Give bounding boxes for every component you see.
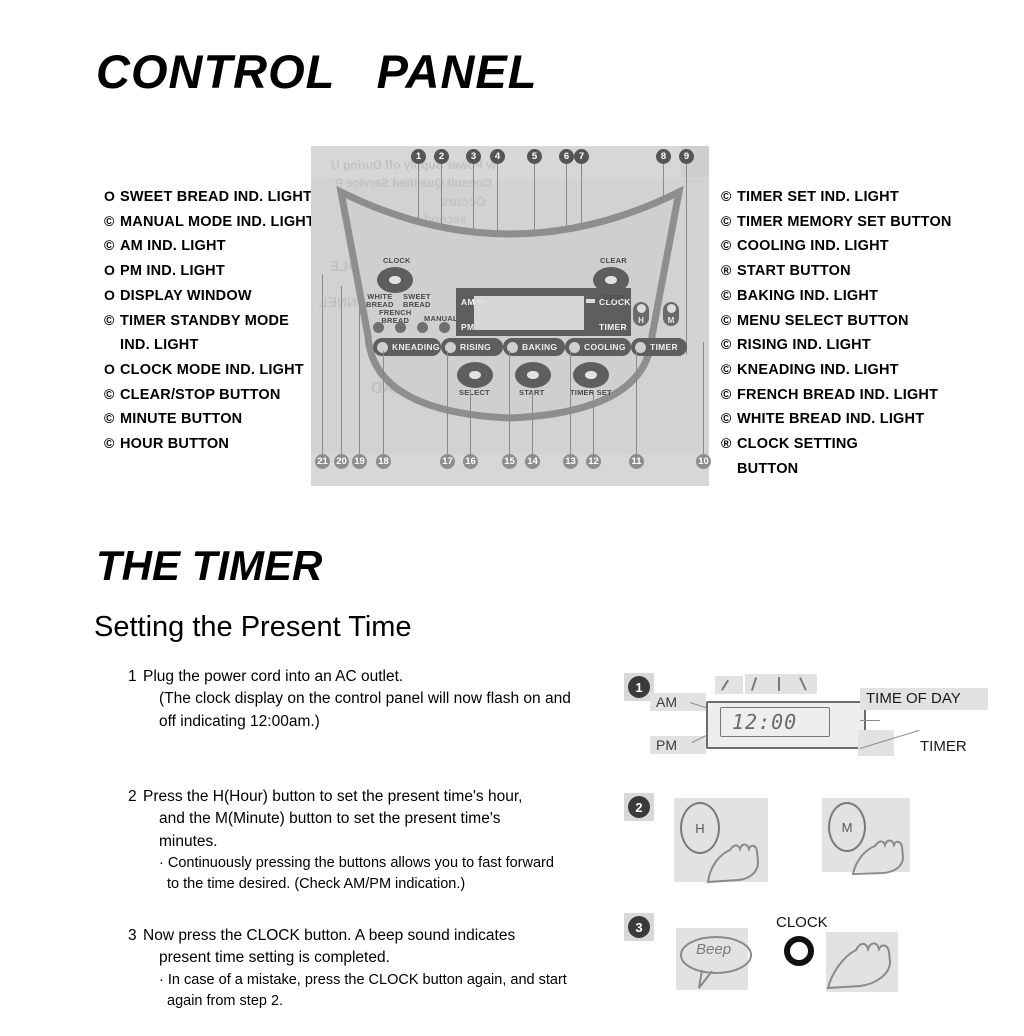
am-label: AM	[656, 694, 677, 710]
callout-label: MINUTE BUTTON	[120, 410, 242, 428]
list-item: © CLEAR/STOP BUTTON	[104, 386, 344, 404]
callout-marker: ©	[104, 312, 120, 330]
timer-mode-indicator-label: TIMER	[599, 322, 627, 332]
callout-badge-17: 17	[440, 454, 455, 469]
pointing-hand-icon	[704, 832, 768, 884]
hour-button[interactable]: H	[633, 302, 649, 326]
clock-indicator-light	[586, 299, 595, 303]
step-1: 1 Plug the power cord into an AC outlet.…	[128, 666, 598, 733]
callout-label: TIMER SET IND. LIGHT	[737, 188, 899, 206]
list-item: © MENU SELECT BUTTON	[721, 312, 981, 330]
step-number: 2	[128, 786, 137, 808]
callout-marker: ©	[721, 213, 737, 231]
minute-button-label: M	[668, 316, 675, 325]
clock-button[interactable]	[377, 267, 413, 293]
list-item: O SWEET BREAD IND. LIGHT	[104, 188, 344, 206]
list-item: ® START BUTTON	[721, 262, 981, 280]
beep-text: Beep	[696, 941, 731, 958]
list-item: © TIMER MEMORY SET BUTTON	[721, 213, 981, 231]
callout-marker: ©	[104, 386, 120, 404]
callout-marker: ©	[104, 410, 120, 428]
page-title-control-panel: CONTROL PANEL	[96, 48, 538, 95]
list-item: © RISING IND. LIGHT	[721, 336, 981, 354]
white-bread-label: WHITEBREAD	[366, 293, 394, 309]
select-button[interactable]	[457, 362, 493, 388]
step-bullet: · Continuously pressing the buttons allo…	[159, 853, 598, 874]
callout-badge-10: 10	[696, 454, 711, 469]
callout-badge-12: 12	[586, 454, 601, 469]
callout-badge-16: 16	[463, 454, 478, 469]
manual-page: CONTROL PANEL O SWEET BREAD IND. LIGHT ©…	[0, 0, 1024, 1036]
callout-marker: ©	[721, 237, 737, 255]
step-line: minutes.	[159, 831, 598, 853]
callout-marker: ©	[104, 213, 120, 231]
list-item: © COOLING IND. LIGHT	[721, 237, 981, 255]
step-3: 3 Now press the CLOCK button. A beep sou…	[128, 925, 608, 1012]
callout-leader	[470, 391, 471, 454]
timer-indicator: TIMER	[631, 338, 687, 356]
callout-marker: ®	[721, 435, 737, 453]
step-bullet: · In case of a mistake, press the CLOCK …	[159, 970, 608, 991]
callout-label: START BUTTON	[737, 262, 851, 280]
start-button[interactable]	[515, 362, 551, 388]
minute-button[interactable]: M	[663, 302, 679, 326]
list-item: © KNEADING IND. LIGHT	[721, 361, 981, 379]
list-item: © AM IND. LIGHT	[104, 237, 344, 255]
timer-label: TIMER	[650, 342, 678, 352]
list-item: © BAKING IND. LIGHT	[721, 287, 981, 305]
list-item: © WHITE BREAD IND. LIGHT	[721, 410, 981, 428]
callout-badge-18: 18	[376, 454, 391, 469]
step-line: and the M(Minute) button to set the pres…	[159, 808, 598, 830]
callout-marker: ©	[721, 312, 737, 330]
cooling-label: COOLING	[584, 342, 626, 352]
callout-marker: O	[104, 188, 120, 206]
clock-illustration-label: CLOCK	[776, 914, 828, 931]
callout-badge-14: 14	[525, 454, 540, 469]
callout-label: TIMER STANDBY MODE	[120, 312, 289, 330]
sweet-bread-label: SWEETBREAD	[403, 293, 431, 309]
cooling-indicator: COOLING	[565, 338, 631, 356]
callout-leader	[636, 351, 637, 454]
kneading-label: KNEADING	[392, 342, 440, 352]
hour-button-label: H	[638, 316, 644, 325]
list-item: © TIMER STANDBY MODE	[104, 312, 344, 330]
callout-leader	[570, 351, 571, 454]
time-of-day-label: TIME OF DAY	[866, 690, 961, 707]
step-line: Plug the power cord into an AC outlet.	[143, 666, 598, 688]
callout-leader	[322, 274, 323, 454]
step-line: off indicating 12:00am.)	[159, 711, 598, 733]
speech-bubble-icon	[678, 930, 754, 994]
rising-label: RISING	[460, 342, 491, 352]
clear-label: CLEAR	[600, 256, 627, 265]
list-item: O CLOCK MODE IND. LIGHT	[104, 361, 344, 379]
callout-marker: ©	[104, 435, 120, 453]
white-bread-indicator	[373, 322, 384, 333]
pm-label: PM	[656, 737, 677, 753]
callout-leader	[703, 342, 704, 454]
callout-label: DISPLAY WINDOW	[120, 287, 252, 305]
timer-label: TIMER	[920, 738, 967, 755]
sweet-bread-indicator	[417, 322, 428, 333]
clear-stop-button[interactable]	[593, 267, 629, 293]
callout-leader	[359, 298, 360, 454]
list-item: O DISPLAY WINDOW	[104, 287, 344, 305]
step-1-illustration: 1 AM PM 12:00 TIME OF DAY TIMER	[620, 668, 990, 773]
timer-set-button[interactable]	[573, 362, 609, 388]
callout-label: PM IND. LIGHT	[120, 262, 225, 280]
pm-indicator-label: PM	[461, 322, 474, 332]
callout-leader	[383, 351, 384, 454]
clock-button-label: CLOCK	[383, 256, 411, 265]
time-of-day-leader-line	[860, 720, 880, 721]
callout-badge-19: 19	[352, 454, 367, 469]
clock-button-icon[interactable]	[784, 936, 814, 966]
callout-marker: O	[104, 287, 120, 305]
callout-marker: ©	[721, 386, 737, 404]
stop-label: STOP	[603, 293, 624, 302]
section-title-the-timer: THE TIMER	[96, 545, 322, 587]
callout-label: BAKING IND. LIGHT	[737, 287, 878, 305]
callout-leader	[532, 391, 533, 454]
list-item: © HOUR BUTTON	[104, 435, 344, 453]
list-item: © FRENCH BREAD IND. LIGHT	[721, 386, 981, 404]
callout-label: AM IND. LIGHT	[120, 237, 226, 255]
step-bullet-cont: to the time desired. (Check AM/PM indica…	[167, 874, 598, 895]
callout-leader	[509, 351, 510, 454]
step-3-illustration: 3 Beep CLOCK	[620, 908, 990, 1018]
french-bread-indicator	[395, 322, 406, 333]
callout-label: CLOCK SETTING	[737, 435, 858, 453]
select-button-label: SELECT	[459, 388, 490, 397]
pointing-hand-icon	[850, 830, 912, 876]
callout-label: CLOCK MODE IND. LIGHT	[120, 361, 304, 379]
callout-badge-13: 13	[563, 454, 578, 469]
step-line: present time setting is completed.	[159, 947, 608, 969]
flash-mark-box	[715, 676, 743, 694]
subsection-title-setting-present-time: Setting the Present Time	[94, 613, 412, 642]
callout-marker: ©	[721, 410, 737, 428]
flash-mark	[778, 677, 780, 691]
callout-marker: ©	[721, 287, 737, 305]
callout-leader	[447, 351, 448, 454]
callout-leader	[341, 286, 342, 454]
list-item: ® CLOCK SETTING	[721, 435, 981, 453]
control-panel-diagram: w Power Supply off During U Consult Qual…	[311, 146, 709, 486]
am-indicator-light	[477, 299, 486, 303]
callout-label: HOUR BUTTON	[120, 435, 229, 453]
step-badge-2: 2	[628, 796, 650, 818]
baking-label: BAKING	[522, 342, 557, 352]
callout-label: SWEET BREAD IND. LIGHT	[120, 188, 312, 206]
callout-leader	[593, 391, 594, 454]
step-2-illustration: 2 H M	[620, 788, 990, 888]
callout-badge-11: 11	[629, 454, 644, 469]
display-window-screen	[474, 296, 584, 330]
callout-label-continuation: BUTTON	[737, 460, 981, 478]
am-indicator-label: AM	[461, 297, 475, 307]
callout-badge-15: 15	[502, 454, 517, 469]
callout-label: KNEADING IND. LIGHT	[737, 361, 899, 379]
step-number: 1	[128, 666, 137, 688]
list-item: © MINUTE BUTTON	[104, 410, 344, 428]
left-callout-label-list: O SWEET BREAD IND. LIGHT © MANUAL MODE I…	[104, 188, 344, 460]
callout-marker: ®	[721, 262, 737, 280]
manual-label: MANUAL	[424, 314, 458, 323]
french-bread-label: FRENCHBREAD	[379, 309, 411, 325]
timer-set-button-label: TIMER SET	[570, 388, 612, 397]
rising-indicator: RISING	[441, 338, 503, 356]
step-line: (The clock display on the control panel …	[159, 688, 598, 710]
step-badge-3: 3	[628, 916, 650, 938]
callout-label: WHITE BREAD IND. LIGHT	[737, 410, 924, 428]
clock-display-value: 12:00	[732, 710, 797, 734]
step-badge-1: 1	[628, 676, 650, 698]
callout-badge-21: 21	[315, 454, 330, 469]
step-2: 2 Press the H(Hour) button to set the pr…	[128, 786, 598, 895]
callout-label: MANUAL MODE IND. LIGHT	[120, 213, 315, 231]
right-callout-label-list: © TIMER SET IND. LIGHT © TIMER MEMORY SE…	[721, 188, 981, 485]
callout-marker: ©	[721, 361, 737, 379]
callout-marker: ©	[721, 336, 737, 354]
pointing-hand-icon	[824, 930, 904, 994]
callout-marker: ©	[104, 237, 120, 255]
callout-label: FRENCH BREAD IND. LIGHT	[737, 386, 938, 404]
manual-indicator	[439, 322, 450, 333]
step-bullet-cont: again from step 2.	[167, 991, 608, 1012]
callout-marker: O	[104, 361, 120, 379]
callout-badge-20: 20	[334, 454, 349, 469]
callout-marker: O	[104, 262, 120, 280]
step-number: 3	[128, 925, 137, 947]
callout-label: MENU SELECT BUTTON	[737, 312, 909, 330]
callout-label: RISING IND. LIGHT	[737, 336, 871, 354]
step-line: Press the H(Hour) button to set the pres…	[143, 786, 598, 808]
callout-marker: ©	[721, 188, 737, 206]
callout-label: COOLING IND. LIGHT	[737, 237, 889, 255]
list-item: O PM IND. LIGHT	[104, 262, 344, 280]
list-item: © MANUAL MODE IND. LIGHT	[104, 213, 344, 231]
list-item: © TIMER SET IND. LIGHT	[721, 188, 981, 206]
step-line: Now press the CLOCK button. A beep sound…	[143, 925, 608, 947]
callout-label: CLEAR/STOP BUTTON	[120, 386, 281, 404]
callout-label: TIMER MEMORY SET BUTTON	[737, 213, 952, 231]
baking-indicator: BAKING	[503, 338, 565, 356]
